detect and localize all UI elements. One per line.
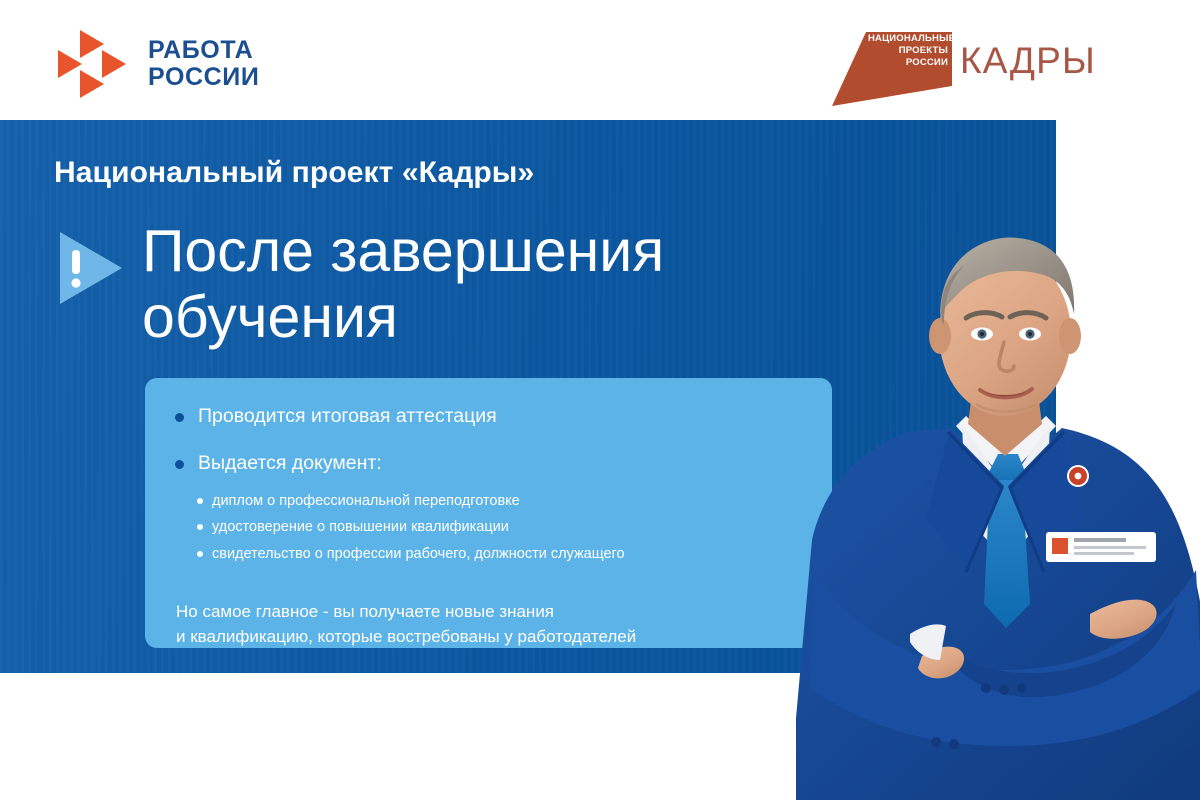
page-title: После завершения обучения <box>142 218 664 350</box>
list-item: диплом о профессиональной переподготовке <box>197 491 802 512</box>
list-item: Проводится итоговая аттестация <box>175 404 802 429</box>
exclamation-play-triangle-icon <box>54 228 128 308</box>
sub-bullet-dot-icon <box>197 524 203 530</box>
headline-line-1: После завершения <box>142 218 664 284</box>
content-card: Проводится итоговая аттестация Выдается … <box>145 378 832 648</box>
flag-line-2: ПРОЕКТЫ <box>868 45 948 57</box>
rabota-rossii-line1: РАБОТА <box>148 37 259 64</box>
slide-root: РАБОТА РОССИИ НАЦИОНАЛЬНЫЕ ПРОЕКТЫ РОССИ… <box>0 0 1200 800</box>
flag-line-1: НАЦИОНАЛЬНЫЕ <box>868 33 948 45</box>
rabota-rossii-logo[interactable]: РАБОТА РОССИИ <box>58 28 259 100</box>
rabota-rossii-triangles-icon <box>58 28 134 100</box>
hand <box>1090 600 1157 639</box>
flag-line-3: РОССИИ <box>868 57 948 69</box>
nacproekty-flag-text: НАЦИОНАЛЬНЫЕ ПРОЕКТЫ РОССИИ <box>868 33 948 69</box>
bullet-label: Проводится итоговая аттестация <box>198 404 497 429</box>
headline-block: После завершения обучения <box>54 218 664 350</box>
sub-bullet-dot-icon <box>197 498 203 504</box>
list-item: удостоверение о повышении квалификации <box>197 517 802 538</box>
closing-line-1: Но самое главное - вы получаете новые зн… <box>176 600 802 624</box>
list-item: Выдается документ: <box>175 451 802 476</box>
bullet-label: Выдается документ: <box>198 451 382 476</box>
sub-bullet-dot-icon <box>197 551 203 557</box>
rabota-rossii-line2: РОССИИ <box>148 64 259 91</box>
document-types-sublist: диплом о профессиональной переподготовке… <box>197 491 802 565</box>
main-blue-panel: Национальный проект «Кадры» После заверш… <box>0 120 1056 673</box>
lapel-pin-icon <box>1067 465 1089 487</box>
nacproekty-flag-icon: НАЦИОНАЛЬНЫЕ ПРОЕКТЫ РОССИИ <box>828 26 954 108</box>
name-badge <box>1046 532 1156 562</box>
project-name-kadry: КАДРЫ <box>960 40 1096 82</box>
closing-line-2: и квалификацию, которые востребованы у р… <box>176 625 802 649</box>
sub-bullet-label: удостоверение о повышении квалификации <box>212 517 509 538</box>
rabota-rossii-wordmark: РАБОТА РОССИИ <box>148 37 259 91</box>
nacproekty-kadry-logo[interactable]: НАЦИОНАЛЬНЫЕ ПРОЕКТЫ РОССИИ КАДРЫ <box>828 26 1096 108</box>
list-item: свидетельство о профессии рабочего, долж… <box>197 544 802 565</box>
bullet-dot-icon <box>175 413 184 422</box>
header-bar: РАБОТА РОССИИ НАЦИОНАЛЬНЫЕ ПРОЕКТЫ РОССИ… <box>0 0 1200 120</box>
headline-line-2: обучения <box>142 284 664 350</box>
sub-bullet-label: диплом о профессиональной переподготовке <box>212 491 520 512</box>
sub-bullet-label: свидетельство о профессии рабочего, долж… <box>212 544 625 565</box>
bullet-dot-icon <box>175 460 184 469</box>
closing-statement: Но самое главное - вы получаете новые зн… <box>176 600 802 648</box>
eyebrow-project-title: Национальный проект «Кадры» <box>54 156 534 190</box>
